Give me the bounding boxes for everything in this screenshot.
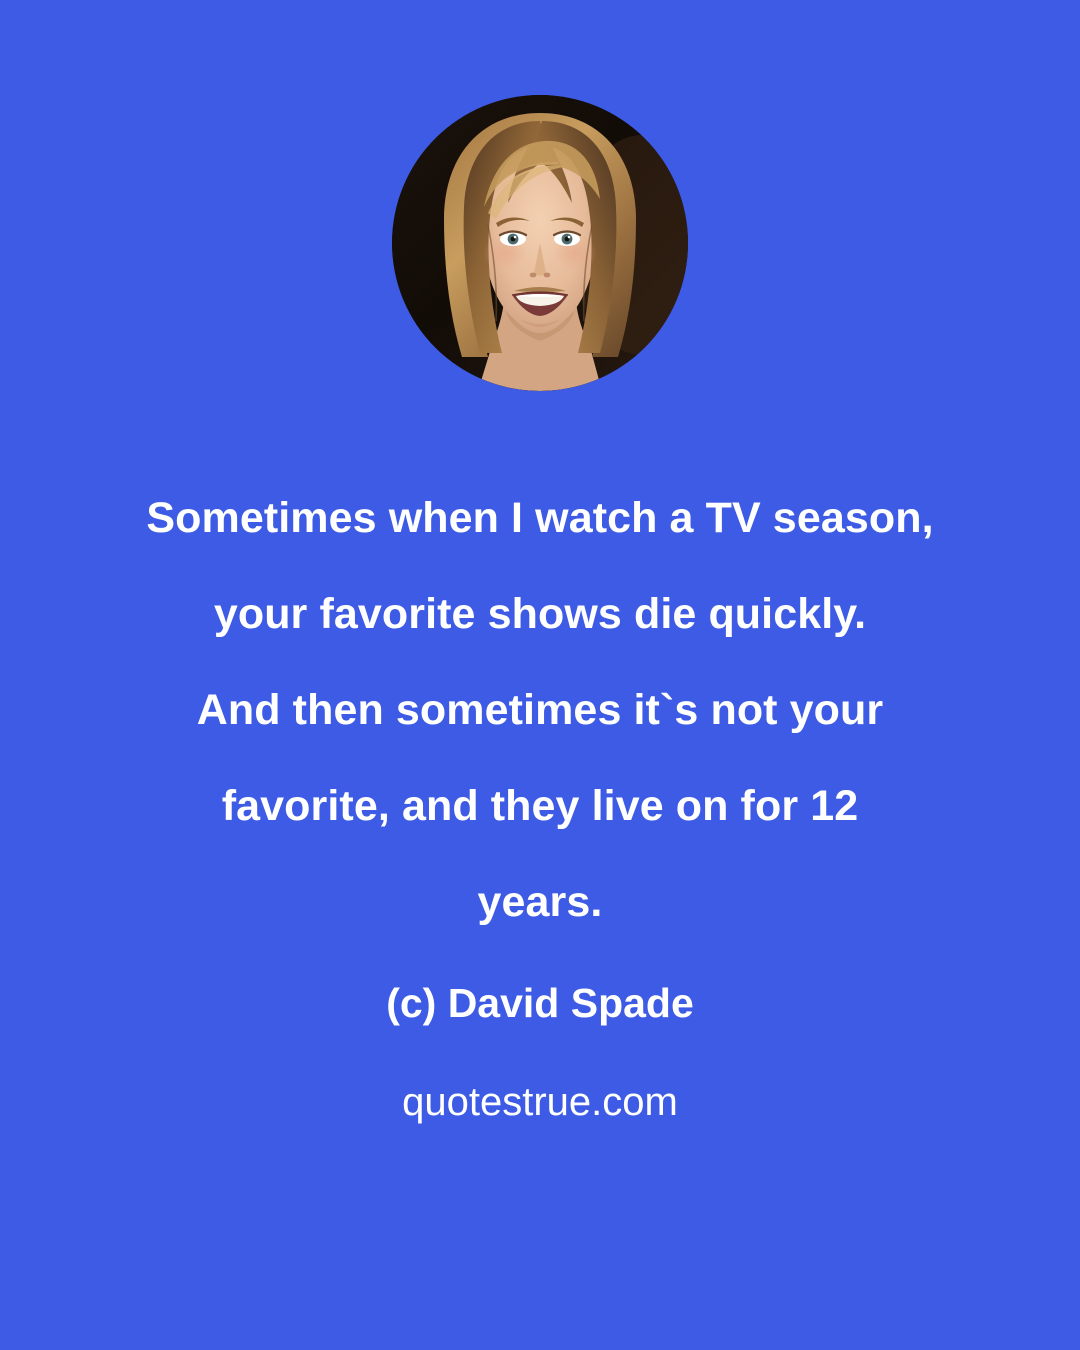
quote-text: Sometimes when I watch a TV season, your… bbox=[0, 470, 1080, 950]
quote-attribution: (c) David Spade bbox=[0, 977, 1080, 1029]
quote-line: favorite, and they live on for 12 bbox=[60, 758, 1020, 854]
avatar bbox=[392, 95, 688, 391]
quote-line: years. bbox=[60, 854, 1020, 950]
quote-line: your favorite shows die quickly. bbox=[60, 566, 1020, 662]
quote-card: Sometimes when I watch a TV season, your… bbox=[0, 0, 1080, 1350]
portrait-container bbox=[392, 95, 688, 391]
site-watermark: quotestrue.com bbox=[0, 1076, 1080, 1128]
quote-line: And then sometimes it`s not your bbox=[60, 662, 1020, 758]
quote-line: Sometimes when I watch a TV season, bbox=[60, 470, 1020, 566]
avatar-portrait-icon bbox=[392, 95, 688, 391]
